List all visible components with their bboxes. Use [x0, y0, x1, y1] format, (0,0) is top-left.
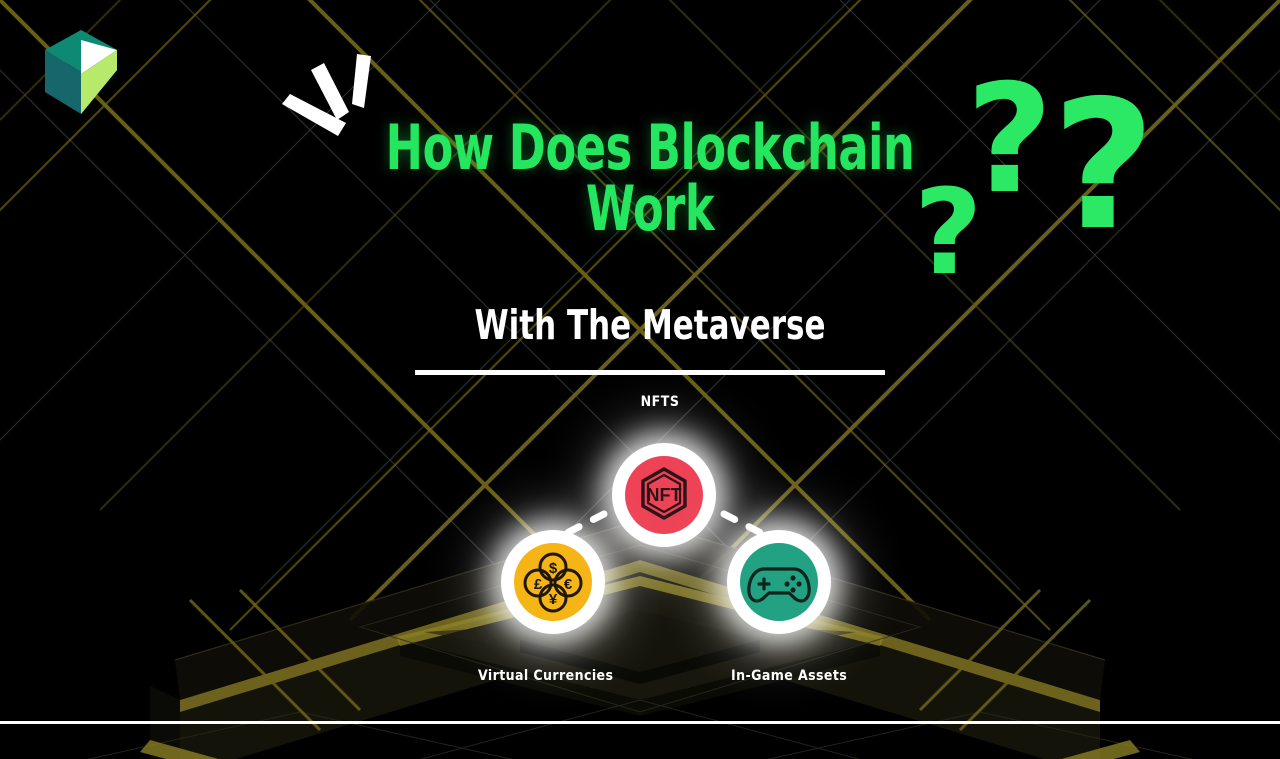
- poster-canvas: ? ? ? How Does Blockchain Work With The …: [0, 0, 1280, 759]
- nft-hexagon-icon: NFT: [625, 456, 703, 534]
- node-disc: $ £ € ¥: [514, 543, 592, 621]
- node-label-virtual-currencies: Virtual Currencies: [478, 668, 613, 684]
- node-nfts[interactable]: NFT: [612, 443, 716, 547]
- diagram-connectors: [0, 0, 1280, 759]
- svg-text:€: €: [564, 576, 573, 593]
- svg-text:¥: ¥: [549, 591, 558, 608]
- nfts-caption: NFTS: [570, 394, 750, 410]
- svg-text:£: £: [534, 576, 543, 593]
- node-virtual-currencies[interactable]: $ £ € ¥: [501, 530, 605, 634]
- svg-text:$: $: [549, 560, 558, 577]
- node-disc: NFT: [625, 456, 703, 534]
- svg-text:NFT: NFT: [647, 485, 682, 505]
- node-label-in-game-assets: In-Game Assets: [731, 668, 847, 684]
- gamepad-icon: [740, 543, 818, 621]
- currency-coins-icon: $ £ € ¥: [514, 543, 592, 621]
- node-in-game-assets[interactable]: [727, 530, 831, 634]
- node-disc: [740, 543, 818, 621]
- bottom-divider: [0, 721, 1280, 724]
